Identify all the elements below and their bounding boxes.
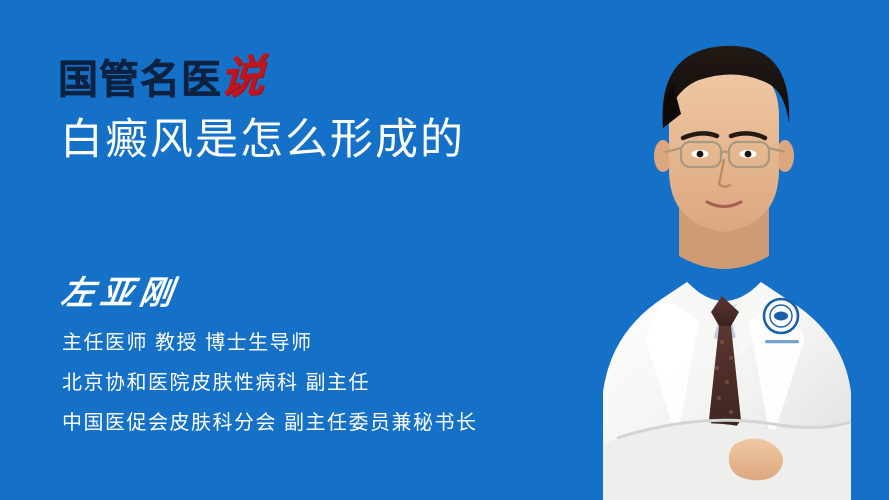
slide-canvas: 国管名医 说 白癜风是怎么形成的 左亚刚 主任医师 教授 博士生导师 北京协和医… xyxy=(0,0,889,500)
doctor-name: 左亚刚 xyxy=(59,266,183,314)
credential-line: 中国医促会皮肤科分会 副主任委员兼秘书长 xyxy=(62,412,478,434)
program-logo-main-text: 国管名医 xyxy=(58,60,222,100)
program-logo: 国管名医 说 xyxy=(58,44,264,100)
doctor-credentials: 主任医师 教授 博士生导师 北京协和医院皮肤性病科 副主任 中国医促会皮肤科分会… xyxy=(62,332,478,434)
credential-line: 北京协和医院皮肤性病科 副主任 xyxy=(62,372,478,394)
slide-title: 白癜风是怎么形成的 xyxy=(60,116,465,165)
credential-line: 主任医师 教授 博士生导师 xyxy=(62,332,478,354)
program-logo-accent-text: 说 xyxy=(219,55,265,102)
doctor-portrait-image xyxy=(559,20,889,500)
doctor-portrait-svg xyxy=(559,20,889,500)
